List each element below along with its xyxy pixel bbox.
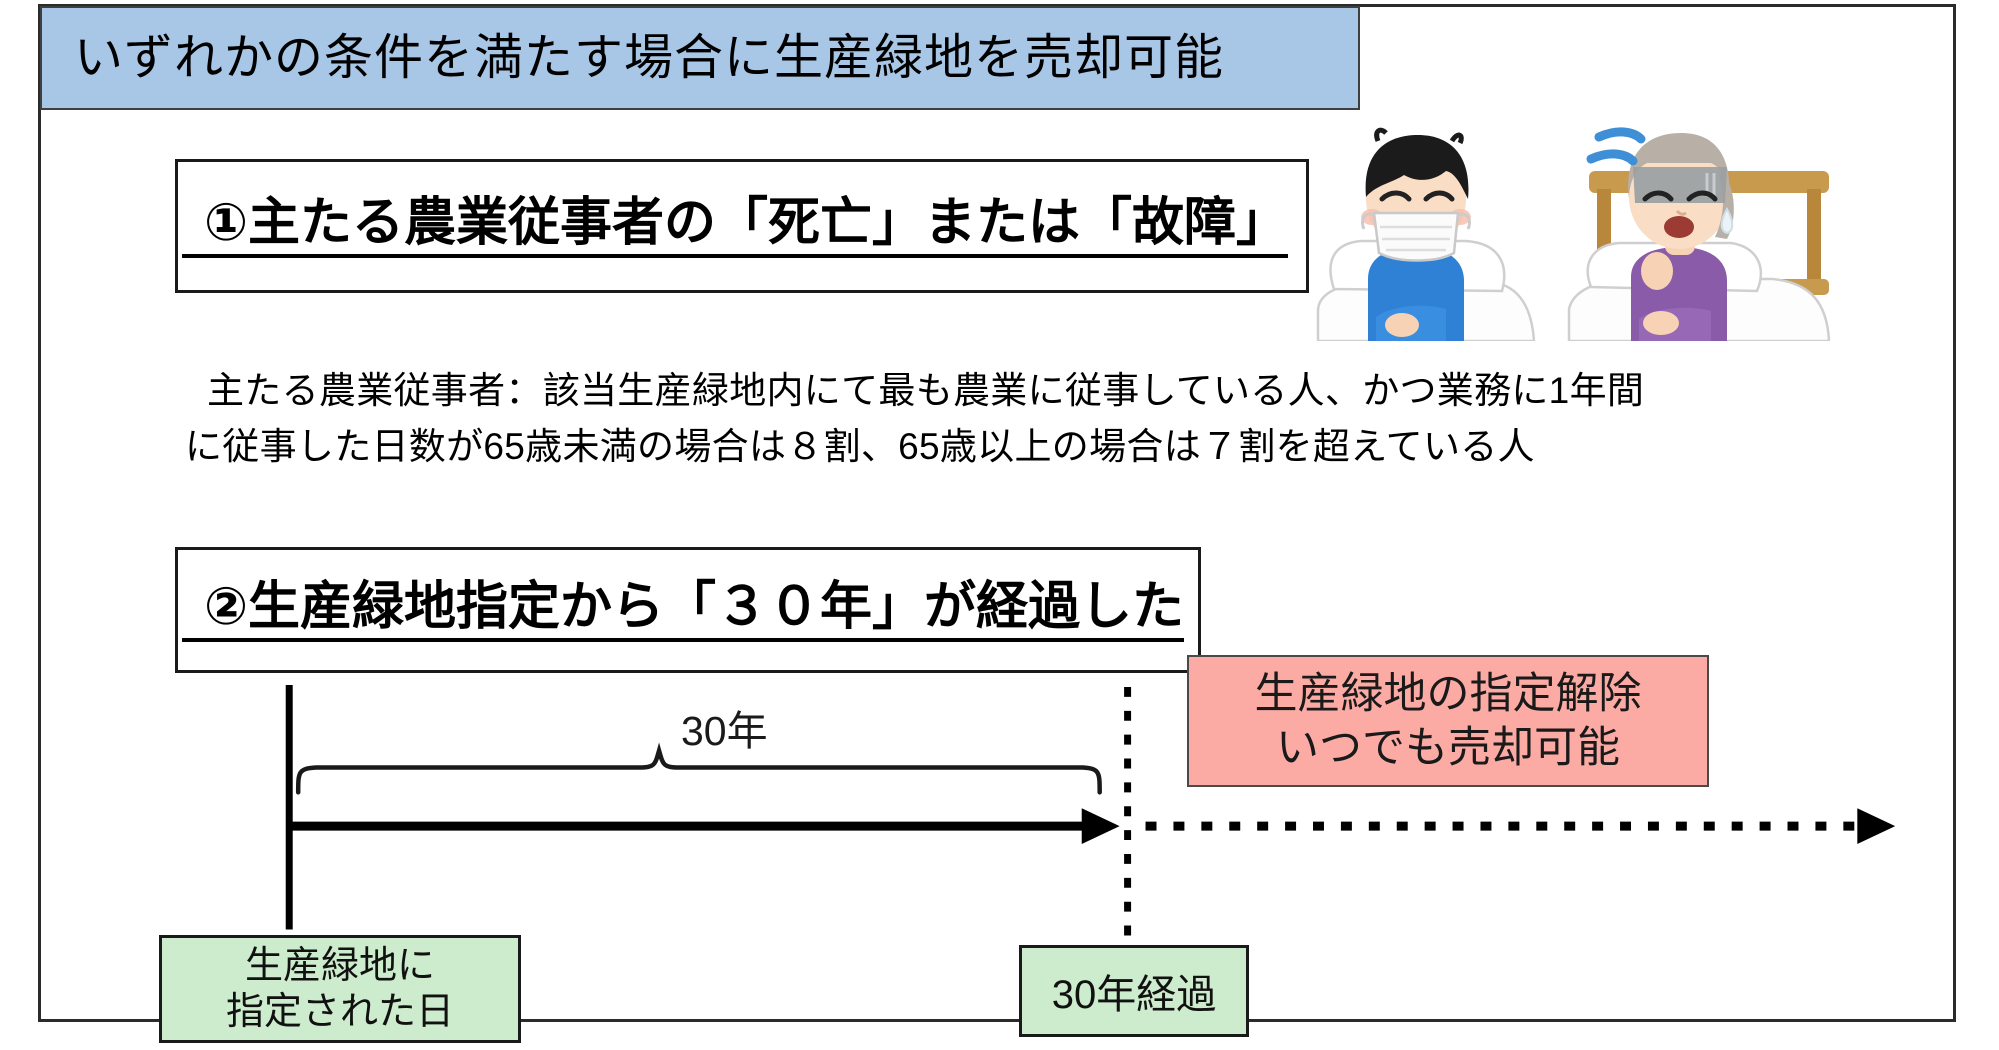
timeline-start-line-2: 指定された日 bbox=[226, 989, 454, 1035]
timeline-thirty-year-box: 30年経過 bbox=[1019, 945, 1249, 1037]
sick-man-in-bed-with-mask-icon bbox=[1318, 130, 1534, 341]
condition-box-2: ②生産緑地指定から「３０年」が経過した bbox=[175, 547, 1201, 673]
slide-canvas: いずれかの条件を満たす場合に生産緑地を売却可能 ①主たる農業従事者の「死亡」また… bbox=[38, 4, 1956, 1022]
result-box-line-1: 生産緑地の指定解除 bbox=[1255, 667, 1642, 721]
definition-line-2: に従事した日数が65歳未満の場合は８割、65歳以上の場合は７割を超えている人 bbox=[185, 419, 1907, 475]
condition-box-1: ①主たる農業従事者の「死亡」または「故障」 bbox=[175, 159, 1309, 293]
illustration-group bbox=[1306, 111, 1836, 341]
timeline-start-line-1: 生産緑地に bbox=[245, 943, 435, 989]
result-box-line-2: いつでも売却可能 bbox=[1276, 721, 1620, 775]
condition-2-label: ②生産緑地指定から「３０年」が経過した bbox=[182, 578, 1184, 642]
thirty-year-span-label: 30年 bbox=[681, 697, 768, 757]
timeline-start-box: 生産緑地に 指定された日 bbox=[159, 935, 521, 1043]
timeline-thirty-year-label: 30年経過 bbox=[1052, 962, 1217, 1020]
sick-elderly-woman-in-bed-icon bbox=[1569, 132, 1829, 341]
timeline-solid-arrowhead bbox=[1082, 808, 1120, 844]
result-box-unrestricted: 生産緑地の指定解除 いつでも売却可能 bbox=[1187, 655, 1709, 787]
timeline-dotted-arrowhead bbox=[1857, 808, 1895, 844]
definition-paragraph: 主たる農業従事者：該当生産緑地内にて最も農業に従事している人、かつ業務に1年間 … bbox=[207, 363, 1907, 475]
condition-1-label: ①主たる農業従事者の「死亡」または「故障」 bbox=[182, 194, 1288, 258]
slide-title: いずれかの条件を満たす場合に生産緑地を売却可能 bbox=[74, 34, 1224, 83]
slide-header-banner: いずれかの条件を満たす場合に生産緑地を売却可能 bbox=[40, 6, 1360, 110]
definition-line-1: 主たる農業従事者：該当生産緑地内にて最も農業に従事している人、かつ業務に1年間 bbox=[207, 363, 1907, 419]
